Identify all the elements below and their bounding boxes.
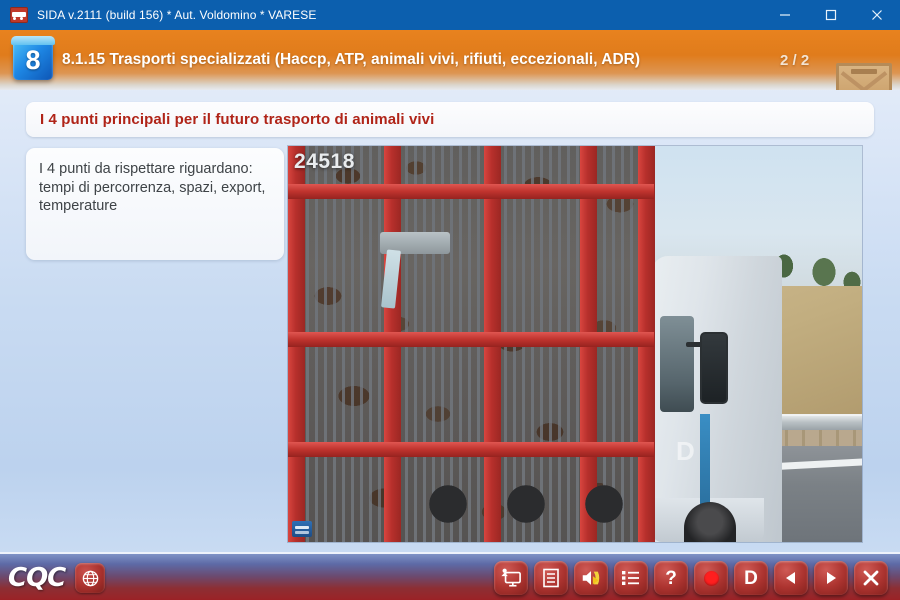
speaker-icon [580, 568, 602, 588]
chapter-badge-icon: 8 [10, 36, 56, 84]
lesson-title: 8.1.15 Trasporti specializzati (Haccp, A… [62, 30, 640, 90]
next-button[interactable] [814, 561, 848, 595]
bottom-toolbar: CQC [0, 552, 900, 600]
triangle-right-icon [823, 570, 839, 586]
image-watermark: 24518 [294, 150, 355, 174]
image-red-rail [288, 184, 654, 199]
info-panel: I 4 punti da rispettare riguardano: temp… [26, 148, 284, 260]
lesson-header: 8 8.1.15 Trasporti specializzati (Haccp,… [0, 30, 900, 90]
triangle-left-icon [783, 570, 799, 586]
close-icon[interactable] [854, 0, 900, 30]
help-button[interactable]: ? [654, 561, 688, 595]
truck-icon [10, 7, 28, 23]
minimize-icon[interactable] [762, 0, 808, 30]
application-window: SIDA v.2111 (build 156) * Aut. Voldomino… [0, 0, 900, 600]
globe-icon[interactable] [75, 563, 105, 593]
chapter-badge-number: 8 [13, 40, 53, 80]
subtitle-text: I 4 punti principali per il futuro trasp… [40, 111, 434, 128]
image-cab-letter: D [676, 436, 695, 467]
image-red-rail [288, 332, 654, 347]
window-title: SIDA v.2111 (build 156) * Aut. Voldomino… [37, 8, 317, 22]
info-text: I 4 punti da rispettare riguardano: temp… [39, 160, 271, 216]
monitor-icon [500, 568, 522, 588]
image-truck-stripe [700, 414, 710, 514]
action-toolbar: ? D [494, 561, 888, 595]
wooden-crate-icon [836, 63, 892, 90]
stock-photo-logo [292, 521, 312, 537]
dictionary-button[interactable]: D [734, 561, 768, 595]
document-button[interactable] [534, 561, 568, 595]
list-icon [621, 569, 641, 587]
image-truck-mirror [700, 332, 728, 404]
maximize-icon[interactable] [808, 0, 854, 30]
audio-button[interactable] [574, 561, 608, 595]
record-button[interactable] [694, 561, 728, 595]
x-icon [862, 569, 880, 587]
record-dot-icon [704, 571, 719, 586]
list-button[interactable] [614, 561, 648, 595]
letter-d-icon: D [744, 569, 758, 588]
presentation-button[interactable] [494, 561, 528, 595]
close-button[interactable] [854, 561, 888, 595]
window-controls [762, 0, 900, 30]
subtitle-panel: I 4 punti principali per il futuro trasp… [26, 102, 874, 137]
cqc-logo: CQC [8, 563, 65, 593]
cqc-logo-group: CQC [8, 562, 105, 594]
lesson-image: D 24518 [288, 146, 862, 542]
page-indicator: 2 / 2 [780, 30, 809, 90]
image-trailer-wheels [408, 446, 658, 542]
previous-button[interactable] [774, 561, 808, 595]
image-truck-window [660, 316, 694, 412]
document-icon [542, 568, 560, 588]
question-mark-icon: ? [665, 569, 677, 588]
content-area: I 4 punti principali per il futuro trasp… [0, 90, 900, 552]
title-bar: SIDA v.2111 (build 156) * Aut. Voldomino… [0, 0, 900, 30]
